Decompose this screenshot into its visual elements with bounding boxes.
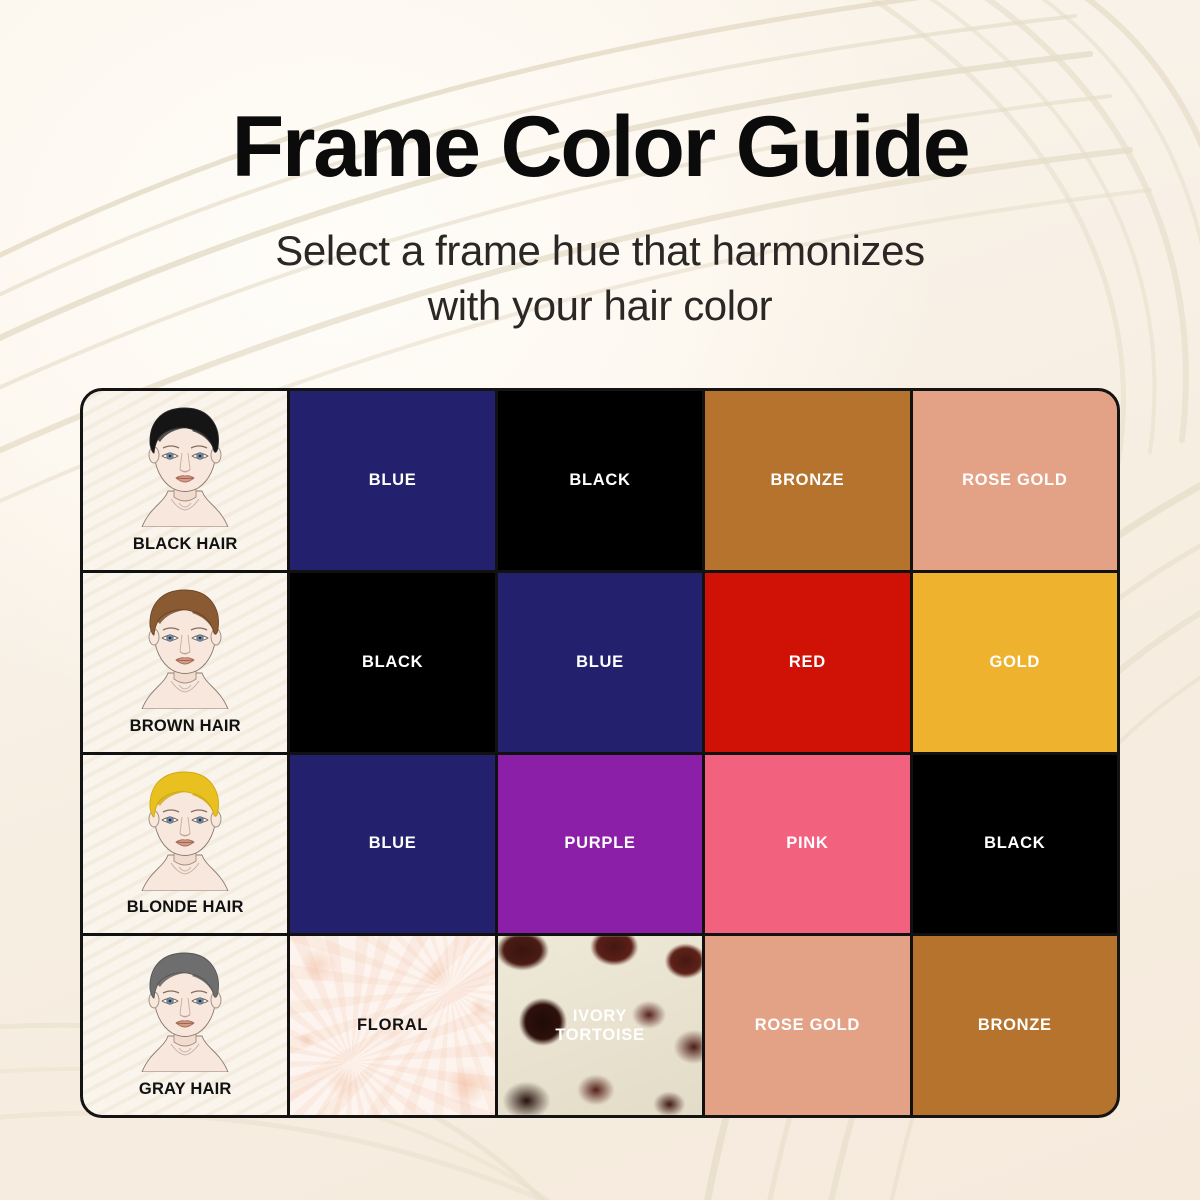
- color-swatch-cell[interactable]: GOLD: [913, 573, 1117, 752]
- female-face-icon: [124, 944, 246, 1072]
- color-swatch-label: IVORYTORTOISE: [555, 1007, 644, 1045]
- page-title: Frame Color Guide: [0, 104, 1200, 190]
- hair-type-label: BROWN HAIR: [83, 717, 287, 736]
- color-swatch-cell[interactable]: BLUE: [290, 391, 494, 570]
- color-swatch-label: ROSE GOLD: [755, 1016, 860, 1035]
- color-swatch-label: BLACK: [984, 834, 1045, 853]
- header: Frame Color Guide Select a frame hue tha…: [0, 0, 1200, 333]
- color-swatch-label: GOLD: [990, 653, 1040, 672]
- page-subtitle: Select a frame hue that harmonizes with …: [0, 224, 1200, 333]
- female-face-icon: [124, 399, 246, 527]
- color-swatch-cell[interactable]: BLUE: [290, 755, 494, 934]
- color-swatch-label: BLACK: [362, 653, 423, 672]
- color-swatch-label: PINK: [786, 834, 828, 853]
- frame-color-grid: BLACK HAIRBLUEBLACKBRONZEROSE GOLD: [80, 388, 1120, 1118]
- color-swatch-label: BLUE: [576, 653, 624, 672]
- color-swatch-label: BLUE: [369, 471, 417, 490]
- color-swatch-cell[interactable]: BRONZE: [705, 391, 909, 570]
- female-face-icon: [124, 763, 246, 891]
- color-swatch-cell[interactable]: BLACK: [913, 755, 1117, 934]
- color-swatch-cell[interactable]: BLACK: [290, 573, 494, 752]
- color-swatch-cell[interactable]: BLACK: [498, 391, 702, 570]
- color-swatch-label: BRONZE: [978, 1016, 1052, 1035]
- hair-type-cell[interactable]: GRAY HAIR: [83, 936, 287, 1115]
- color-swatch-label: FLORAL: [357, 1016, 428, 1035]
- color-swatch-cell[interactable]: BRONZE: [913, 936, 1117, 1115]
- color-swatch-cell[interactable]: PURPLE: [498, 755, 702, 934]
- page-subtitle-line1: Select a frame hue that harmonizes: [0, 224, 1200, 279]
- hair-type-label: GRAY HAIR: [83, 1080, 287, 1099]
- color-swatch-cell[interactable]: RED: [705, 573, 909, 752]
- hair-type-cell[interactable]: BROWN HAIR: [83, 573, 287, 752]
- color-swatch-label: BLACK: [569, 471, 630, 490]
- color-swatch-label: RED: [789, 653, 826, 672]
- color-swatch-label: ROSE GOLD: [962, 471, 1067, 490]
- page-subtitle-line2: with your hair color: [0, 279, 1200, 334]
- color-swatch-cell[interactable]: FLORAL: [290, 936, 494, 1115]
- color-swatch-label: BRONZE: [770, 471, 844, 490]
- hair-type-label: BLACK HAIR: [83, 535, 287, 554]
- color-swatch-cell[interactable]: ROSE GOLD: [705, 936, 909, 1115]
- color-swatch-label: BLUE: [369, 834, 417, 853]
- color-swatch-label: PURPLE: [564, 834, 635, 853]
- color-swatch-cell[interactable]: PINK: [705, 755, 909, 934]
- color-swatch-cell[interactable]: BLUE: [498, 573, 702, 752]
- color-swatch-cell[interactable]: IVORYTORTOISE: [498, 936, 702, 1115]
- hair-type-cell[interactable]: BLACK HAIR: [83, 391, 287, 570]
- female-face-icon: [124, 581, 246, 709]
- hair-type-label: BLONDE HAIR: [83, 898, 287, 917]
- poster-root: Frame Color Guide Select a frame hue tha…: [0, 0, 1200, 1200]
- hair-type-cell[interactable]: BLONDE HAIR: [83, 755, 287, 934]
- color-swatch-cell[interactable]: ROSE GOLD: [913, 391, 1117, 570]
